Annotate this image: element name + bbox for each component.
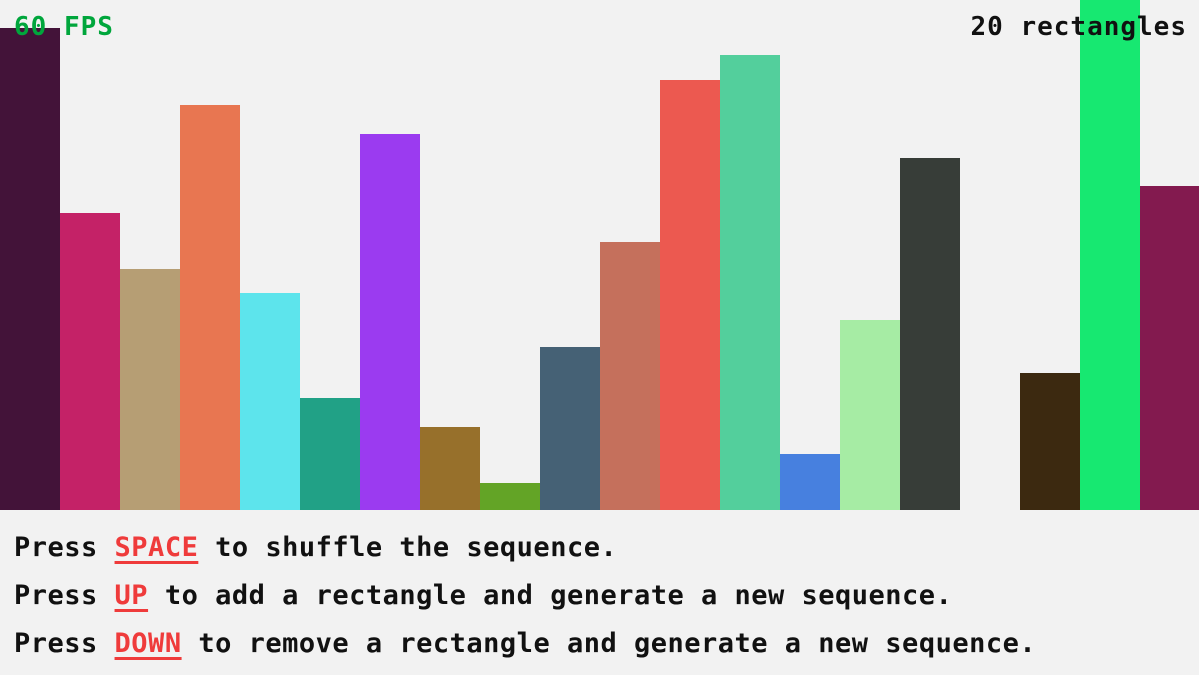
instruction-suffix: to remove a rectangle and generate a new… bbox=[182, 628, 1037, 659]
chart-bar bbox=[1080, 0, 1140, 510]
instruction-prefix: Press bbox=[14, 580, 115, 611]
instruction-line-2: Press UP to add a rectangle and generate… bbox=[14, 572, 1199, 620]
chart-bar bbox=[900, 158, 960, 510]
chart-bar bbox=[660, 80, 720, 510]
chart-bar bbox=[0, 28, 60, 510]
chart-bar bbox=[120, 269, 180, 510]
rectangle-sequence-app: 60 FPS 20 rectangles Press SPACE to shuf… bbox=[0, 0, 1199, 675]
instruction-line-1: Press SPACE to shuffle the sequence. bbox=[14, 524, 1199, 572]
chart-bar bbox=[840, 320, 900, 510]
instruction-suffix: to add a rectangle and generate a new se… bbox=[148, 580, 952, 611]
chart-bar bbox=[780, 454, 840, 510]
chart-bar bbox=[180, 105, 240, 510]
chart-bar bbox=[540, 347, 600, 510]
chart-bar bbox=[720, 55, 780, 510]
chart-bar bbox=[1020, 373, 1080, 510]
instructions-panel: Press SPACE to shuffle the sequence.Pres… bbox=[0, 510, 1199, 675]
chart-bar bbox=[240, 293, 300, 510]
instruction-line-3: Press DOWN to remove a rectangle and gen… bbox=[14, 620, 1199, 668]
chart-bar bbox=[420, 427, 480, 510]
key-down[interactable]: DOWN bbox=[115, 628, 182, 659]
key-space[interactable]: SPACE bbox=[115, 532, 199, 563]
chart-bar bbox=[600, 242, 660, 510]
chart-bar bbox=[300, 398, 360, 510]
rectangle-count-label: 20 rectangles bbox=[971, 12, 1188, 42]
key-up[interactable]: UP bbox=[115, 580, 149, 611]
bar-chart-canvas[interactable] bbox=[0, 0, 1199, 510]
instruction-suffix: to shuffle the sequence. bbox=[198, 532, 617, 563]
chart-bar bbox=[480, 483, 540, 510]
chart-bar bbox=[360, 134, 420, 510]
instruction-prefix: Press bbox=[14, 628, 115, 659]
fps-counter: 60 FPS bbox=[14, 12, 114, 42]
chart-bar bbox=[1140, 186, 1199, 510]
chart-bar bbox=[60, 213, 120, 510]
instruction-prefix: Press bbox=[14, 532, 115, 563]
